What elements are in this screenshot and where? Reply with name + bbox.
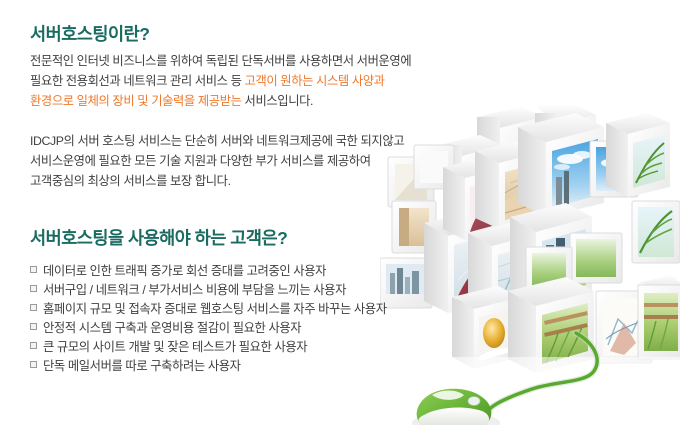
cube-photo-grass-right [638, 275, 680, 359]
list-item: 데이터로 인한 트래픽 증가로 회선 증대를 고려중인 사용자 [30, 261, 387, 280]
page-root: 서버호스팅이란? 전문적인 인터넷 비즈니스를 위하여 독립된 단독서버를 사용… [0, 0, 680, 425]
cube-photo-sketch [596, 291, 652, 363]
square-bullet-icon [30, 304, 37, 311]
list-item: 단독 메일서버를 따로 구축하려는 사용자 [30, 356, 387, 375]
paragraph-1-line-2: 필요한 전용회선과 네트워크 관리 서비스 등 고객이 원하는 시스템 사양과 [30, 71, 411, 91]
cube-photo-leaf-mid [632, 201, 680, 263]
list-item: 안정적 시스템 구축과 운영비용 절감이 필요한 사용자 [30, 318, 387, 337]
cube-photo-red-fabric [424, 211, 500, 313]
square-bullet-icon [30, 342, 37, 349]
intro-paragraph-1: 전문적인 인터넷 비즈니스를 위하여 독립된 단독서버를 사용하면서 서버운영에… [30, 51, 411, 111]
square-bullet-icon [30, 323, 37, 330]
page-title-section-1: 서버호스팅이란? [30, 21, 149, 46]
cube-collage-graphic [380, 105, 680, 425]
cube-photo-skyline [510, 203, 592, 309]
paragraph-1-line-1-text: 전문적인 인터넷 비즈니스를 위하여 독립된 단독서버를 사용하면서 서버운영에 [30, 54, 411, 68]
list-item-label: 안정적 시스템 구축과 운영비용 절감이 필요한 사용자 [43, 318, 301, 336]
cube-photo-mauve [443, 157, 508, 240]
cube-photo-gold [452, 286, 520, 369]
paragraph-1-line-3-highlight: 환경으로 일체의 장비 및 기술력을 제공받는 [30, 94, 242, 108]
cube-photo-map [468, 221, 542, 315]
cube-frame-left-c [392, 201, 436, 253]
square-bullet-icon [30, 285, 37, 292]
cube-frame-left-b [414, 145, 454, 189]
paragraph-2-line-3: 고객중심의 최상의 서비스를 보장 합니다. [30, 171, 404, 191]
paragraph-1-line-3: 환경으로 일체의 장비 및 기술력을 제공받는 서비스입니다. [30, 91, 411, 111]
list-item-label: 단독 메일서버를 따로 구축하려는 사용자 [43, 356, 241, 374]
cube-photo-city [380, 258, 432, 308]
cube-photo-sky-small [590, 141, 638, 197]
list-item: 서버구입 / 네트워크 / 부가서비스 비용에 부담을 느끼는 사용자 [30, 280, 387, 299]
page-title-section-2: 서버호스팅을 사용해야 하는 고객은? [30, 225, 287, 250]
target-customer-list: 데이터로 인한 트래픽 증가로 회선 증대를 고려중인 사용자 서버구입 / 네… [30, 261, 387, 375]
paragraph-1-line-1: 전문적인 인터넷 비즈니스를 위하여 독립된 단독서버를 사용하면서 서버운영에 [30, 51, 411, 71]
paragraph-2-line-2: 서비스운영에 필요한 모든 기술 지원과 다양한 부가 서비스를 제공하여 [30, 151, 404, 171]
square-bullet-icon [30, 361, 37, 368]
paragraph-1-line-2-text: 필요한 전용회선과 네트워크 관리 서비스 등 [30, 74, 245, 88]
list-item-label: 큰 규모의 사이트 개발 및 잦은 테스트가 필요한 사용자 [43, 337, 307, 355]
cube-photo-leaf-top [606, 113, 670, 197]
intro-paragraph-2: IDCJP의 서버 호스팅 서비스는 단순히 서버와 네트워크제공에 국한 되지… [30, 131, 404, 191]
cube-photo-sky [518, 113, 604, 217]
list-item-label: 데이터로 인한 트래픽 증가로 회선 증대를 고려중인 사용자 [43, 261, 326, 279]
paragraph-2-line-1: IDCJP의 서버 호스팅 서비스는 단순히 서버와 네트워크제공에 국한 되지… [30, 131, 404, 151]
cube-photo-desert [475, 140, 546, 229]
list-item: 큰 규모의 사이트 개발 및 잦은 테스트가 필요한 사용자 [30, 337, 387, 356]
mouse-cable [488, 333, 597, 411]
cube-back-row [440, 105, 596, 197]
list-item: 홈페이지 규모 및 접속자 증대로 웹호스팅 서비스를 자주 바꾸는 사용자 [30, 299, 387, 318]
paragraph-1-line-3-text: 서비스입니다. [242, 94, 314, 108]
cube-photo-field-a [570, 233, 622, 283]
cube-photo-field-b [526, 247, 572, 293]
paragraph-1-line-2-highlight: 고객이 원하는 시스템 사양과 [245, 74, 385, 88]
list-item-label: 홈페이지 규모 및 접속자 증대로 웹호스팅 서비스를 자주 바꾸는 사용자 [43, 299, 387, 317]
list-item-label: 서버구입 / 네트워크 / 부가서비스 비용에 부담을 느끼는 사용자 [43, 280, 346, 298]
square-bullet-icon [30, 266, 37, 273]
cube-photo-grass-fence [508, 277, 594, 373]
computer-mouse-icon [412, 389, 500, 425]
